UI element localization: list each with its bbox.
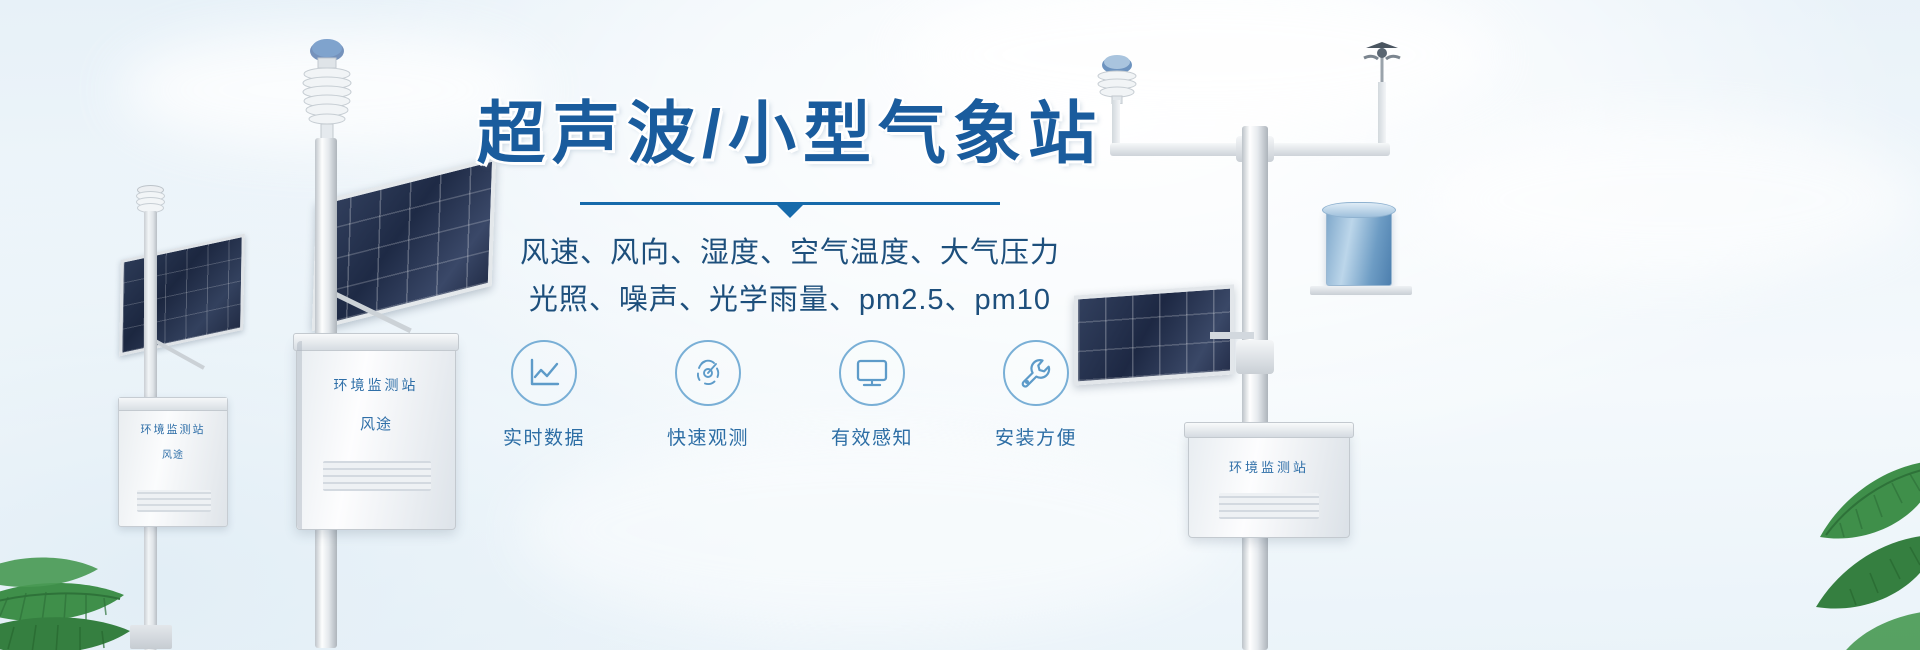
wrench-tool-icon [1003,340,1069,406]
mast-collar [1236,340,1274,374]
monitor-display-icon [839,340,905,406]
banner-subtitle-group: 风速、风向、湿度、空气温度、大气压力 光照、噪声、光学雨量、pm2.5、pm10 [440,230,1140,324]
feature-easy-installation[interactable]: 安装方便 [973,340,1099,450]
cabinet-vent [1219,493,1319,519]
tropical-leaf-decoration-left [0,475,220,650]
title-divider [580,198,1000,214]
feature-effective-sensing[interactable]: 有效感知 [809,340,935,450]
feature-label: 实时数据 [481,423,607,450]
banner-text-block: 超声波/小型气象站 风速、风向、湿度、空气温度、大气压力 光照、噪声、光学雨量、… [440,96,1140,324]
feature-list: 实时数据 快速观测 [440,340,1140,450]
cabinet-lid [1184,422,1354,438]
feature-label: 快速观测 [645,423,771,450]
cabinet-door-edge [297,341,455,529]
divider-triangle-icon [777,205,803,218]
feature-label: 安装方便 [973,423,1099,450]
subtitle-line-1: 风速、风向、湿度、空气温度、大气压力 [440,230,1140,277]
feature-label: 有效感知 [809,423,935,450]
cabinet-label: 环境监测站 [119,421,227,437]
cabinet-lid [119,398,227,411]
optical-rain-gauge [1326,208,1392,286]
mast-pole [1242,126,1268,650]
controller-cabinet: 环境监测站 风途 [296,340,456,530]
tropical-leaf-decoration-right [1670,425,1920,650]
controller-cabinet: 环境监测站 [1188,430,1350,538]
product-banner: 环境监测站 风途 [0,0,1920,650]
feature-fast-observation[interactable]: 快速观测 [645,340,771,450]
banner-title: 超声波/小型气象站 [440,96,1140,172]
radar-observation-icon [675,340,741,406]
ultrasonic-wind-sensor-icon [288,38,366,142]
solar-panel [119,234,245,357]
cabinet-label: 环境监测站 [1189,457,1349,476]
subtitle-line-2: 光照、噪声、光学雨量、pm2.5、pm10 [440,277,1140,324]
instrument-shelf [1310,286,1412,295]
sensor-drop-arm [1378,82,1386,148]
line-chart-icon [511,340,577,406]
feature-realtime-data[interactable]: 实时数据 [481,340,607,450]
brand-logo-label: 风途 [119,446,227,461]
panel-support-arm [1210,332,1254,339]
wind-vane-anemometer-icon [1356,40,1408,86]
